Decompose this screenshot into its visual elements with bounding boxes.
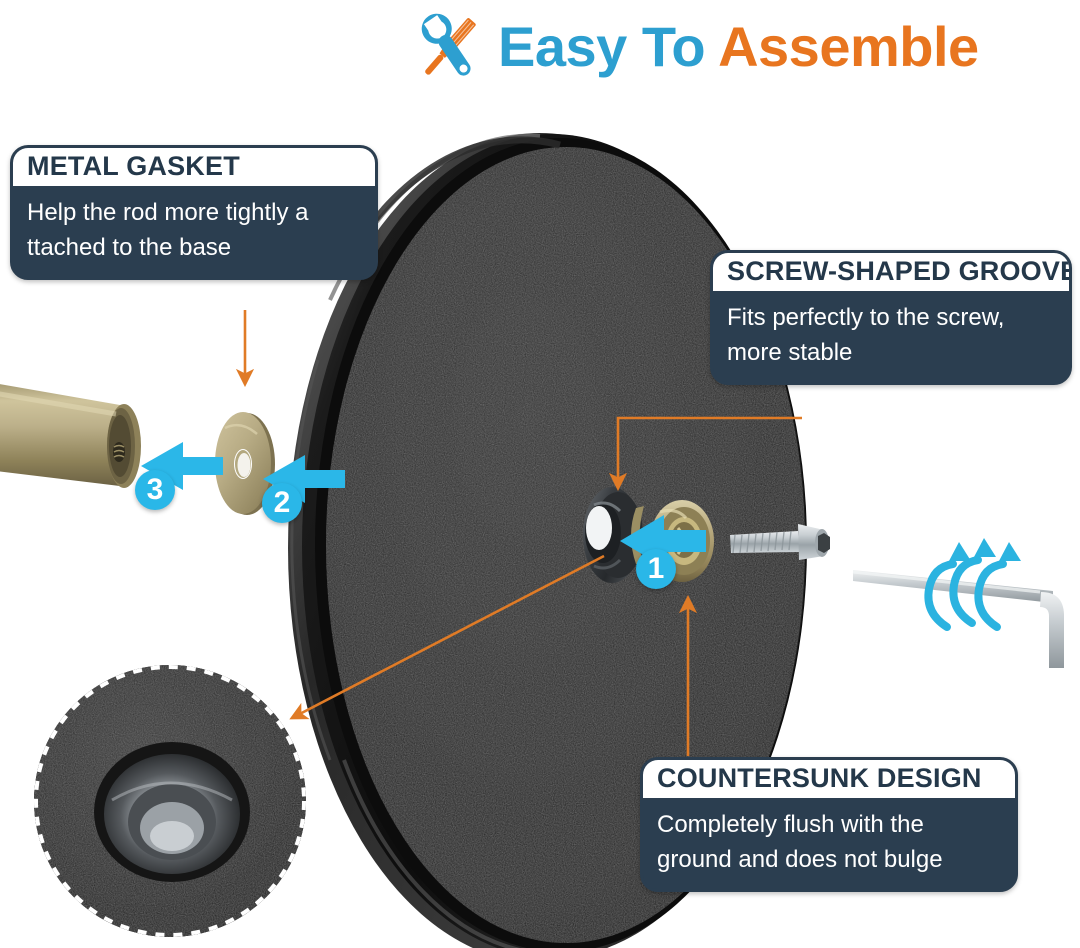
callout-body-line: ttached to the base [27, 230, 361, 265]
callout-title: METAL GASKET [13, 148, 375, 186]
callout-body-line: Completely flush with the [657, 807, 1001, 842]
title-line: Easy To Assemble [498, 19, 979, 75]
page-title: Easy To Assemble [410, 4, 1080, 90]
groove-leader-elbow-arrow [618, 418, 802, 488]
callout-body: Fits perfectly to the screw, more stable [713, 291, 1069, 382]
callout-screw-shaped-groove: SCREW-SHAPED GROOVE Fits perfectly to th… [710, 250, 1072, 385]
rotation-arrows-icon [928, 560, 1003, 627]
screw-shaped-groove [583, 487, 643, 583]
title-part-orange: Assemble [718, 15, 979, 78]
callout-body-line: Fits perfectly to the screw, [727, 300, 1055, 335]
callout-body-line: more stable [727, 335, 1055, 370]
step-badge-1: 1 [636, 549, 676, 589]
countersunk-hole-detail-circle [34, 665, 306, 937]
callout-countersunk-design: COUNTERSUNK DESIGN Completely flush with… [640, 757, 1018, 892]
detail-inset-leader-arrow [292, 556, 604, 718]
callout-body-line: Help the rod more tightly a [27, 195, 361, 230]
callout-body: Help the rod more tightly a ttached to t… [13, 186, 375, 277]
title-part-blue: Easy To [498, 15, 718, 78]
callout-title: SCREW-SHAPED GROOVE [713, 253, 1069, 291]
callout-metal-gasket: METAL GASKET Help the rod more tightly a… [10, 145, 378, 280]
countersunk-hex-screw [730, 524, 830, 560]
rotation-arrowheads-icon [949, 538, 1021, 561]
step-badge-3: 3 [135, 470, 175, 510]
wrench-screwdriver-icon [410, 8, 488, 86]
callout-title: COUNTERSUNK DESIGN [643, 760, 1015, 798]
brass-support-rod [0, 382, 141, 488]
callout-body: Completely flush with the ground and doe… [643, 798, 1015, 889]
infographic-canvas: Easy To Assemble METAL GASKET Help the r… [0, 0, 1080, 948]
step-badge-2: 2 [262, 483, 302, 523]
callout-body-line: ground and does not bulge [657, 842, 1001, 877]
hex-allen-key [853, 570, 1064, 668]
